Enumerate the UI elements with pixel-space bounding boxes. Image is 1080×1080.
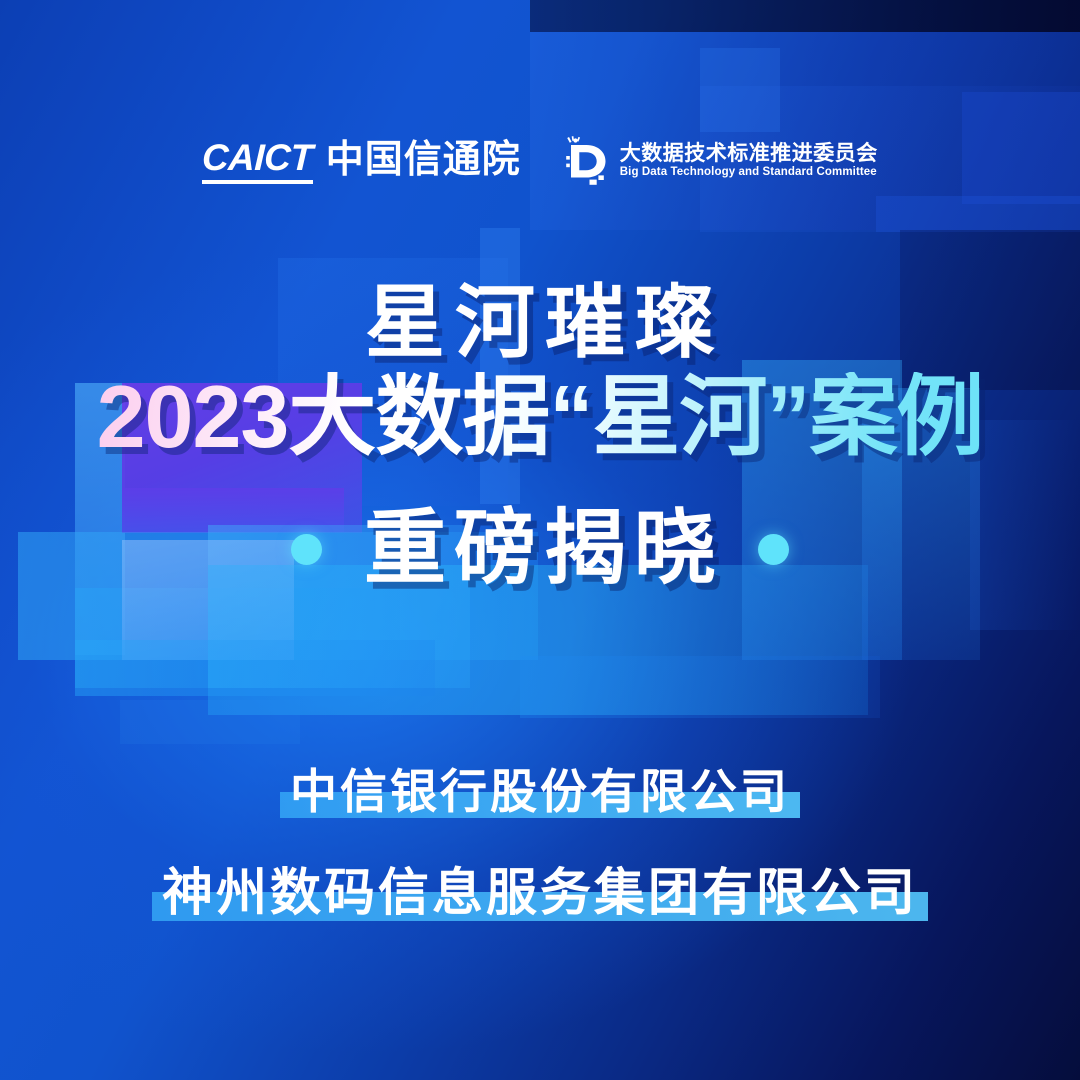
caict-acronym: CAICT [202,139,314,176]
winner-name: 中信银行股份有限公司 [290,765,790,818]
caict-underline-rule [202,180,313,184]
letter-d-icon [565,136,609,186]
committee-english-name: Big Data Technology and Standard Committ… [620,167,878,179]
bg-block-topright-wide [876,196,1080,232]
headline-line-1: 星河璀璨 [0,282,1080,364]
big-data-committee-text: 大数据技术标准推进委员会 Big Data Technology and Sta… [620,143,878,179]
bg-block-top-dark-band [530,0,1080,32]
bg-block-topright-small [700,48,780,132]
committee-chinese-name: 大数据技术标准推进委员会 [620,143,878,164]
bg-block-right-low [520,656,880,718]
poster-canvas: CAICT 中国信通院 [0,0,1080,1080]
winner-name: 神州数码信息服务集团有限公司 [162,864,918,921]
winner-item: 神州数码信息服务集团有限公司 [162,867,918,918]
big-data-committee-logo: 大数据技术标准推进委员会 Big Data Technology and Sta… [565,136,878,186]
caict-logo: CAICT 中国信通院 [202,139,521,184]
bg-block-bottom-left [120,700,300,744]
caict-wordmark: CAICT [202,139,313,184]
headline-line-3-row: 重磅揭晓 [0,507,1080,591]
bg-block-cyan-low [75,640,435,696]
winners-list: 中信银行股份有限公司 神州数码信息服务集团有限公司 [0,768,1080,918]
winner-item: 中信银行股份有限公司 [290,768,790,815]
headline-line-3: 重磅揭晓 [356,507,724,591]
headline-line-2: 2023大数据“星河”案例 [0,372,1080,462]
logo-row: CAICT 中国信通院 [0,136,1080,186]
headline-group: 星河璀璨 2023大数据“星河”案例 重磅揭晓 [0,282,1080,591]
dot-right-icon [758,534,789,565]
caict-chinese-name: 中国信通院 [326,141,521,181]
dot-left-icon [291,534,322,565]
